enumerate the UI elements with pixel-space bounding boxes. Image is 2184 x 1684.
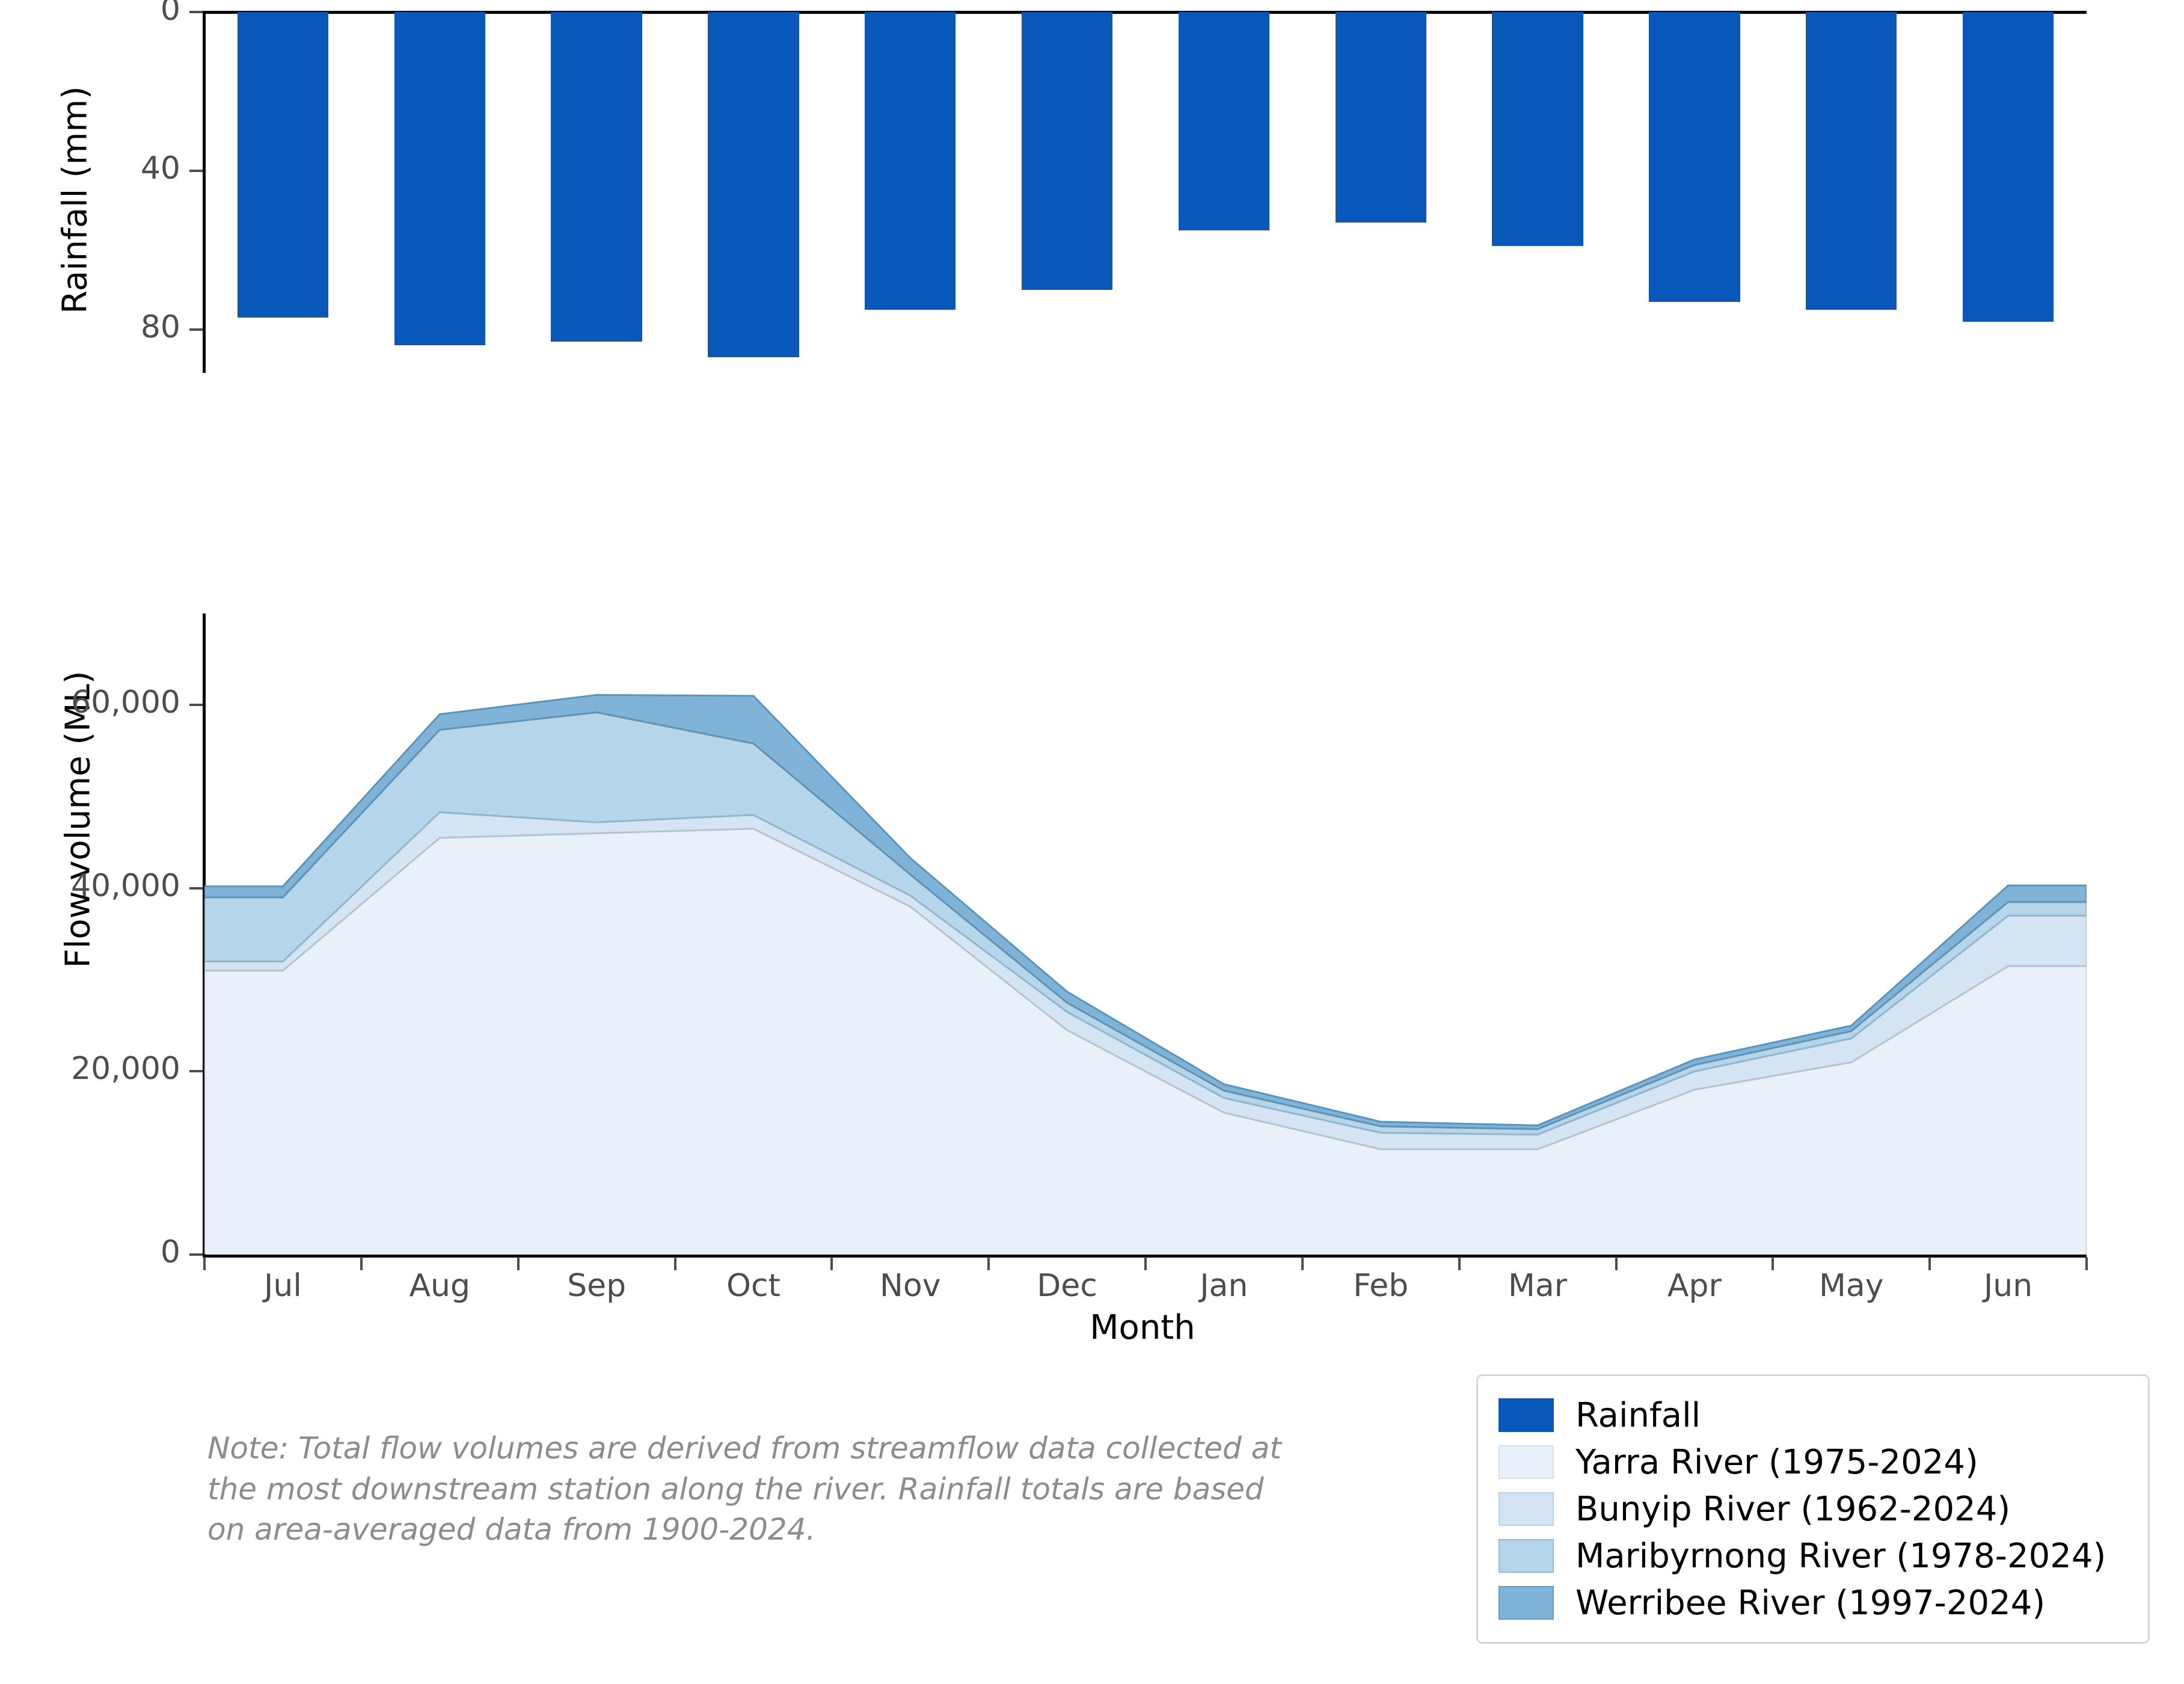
month-tick-label: Oct [675,1268,832,1304]
flow-tick-label: 0 [0,1234,180,1270]
legend-label: Werribee River (1997-2024) [1575,1584,2045,1623]
rainfall-tick-label: 0 [36,0,180,28]
rainfall-tick-mark [189,170,203,172]
x-axis-label: Month [198,1308,2087,1347]
rainfall-bar [1649,12,1740,302]
legend-label: Yarra River (1975-2024) [1575,1443,1978,1482]
rainfall-bars-panel [204,12,2087,373]
month-tick-label: Dec [989,1268,1146,1304]
chart-figure: Rainfall (mm) 04080 Flow volume (ML) 020… [0,0,2184,1684]
rainfall-tick-label: 40 [36,150,180,186]
rainfall-bar [1806,12,1897,310]
rainfall-bar [1963,12,2054,322]
rainfall-bar [551,12,642,342]
rainfall-bar [1336,12,1426,223]
flow-area-panel [204,613,2087,1254]
rainfall-bar [394,12,485,345]
flow-area-svg [204,613,2087,1254]
rainfall-bar [238,12,328,318]
legend-swatch [1498,1398,1554,1432]
flow-tick-mark [189,1253,203,1256]
flow-tick-label: 40,000 [0,868,180,904]
legend-item[interactable]: Yarra River (1975-2024) [1498,1439,2127,1486]
month-tick-label: Apr [1616,1268,1773,1304]
flow-tick-label: 60,000 [0,684,180,721]
rainfall-bar [708,12,799,357]
legend-label: Rainfall [1575,1396,1701,1435]
month-tick-label: Jan [1146,1268,1302,1304]
legend-item[interactable]: Werribee River (1997-2024) [1498,1579,2127,1626]
month-tick-label: May [1773,1268,1930,1304]
rainfall-tick-label: 80 [36,309,180,345]
month-tick-label: Sep [518,1268,675,1304]
month-tick-label: Feb [1302,1268,1459,1304]
legend-item[interactable]: Bunyip River (1962-2024) [1498,1486,2127,1532]
chart-note: Note: Total flow volumes are derived fro… [207,1428,1290,1550]
flow-tick-mark [189,704,203,706]
rainfall-bar [1022,12,1112,290]
chart-legend: RainfallYarra River (1975-2024)Bunyip Ri… [1476,1374,2150,1644]
legend-label: Bunyip River (1962-2024) [1575,1490,2010,1529]
month-tick-label: Nov [832,1268,989,1304]
month-tick-label: Jul [204,1268,361,1304]
legend-swatch [1498,1539,1554,1573]
month-tick-label: Aug [361,1268,518,1304]
flow-tick-mark [189,887,203,890]
flow-tick-label: 20,000 [0,1051,180,1087]
month-tick-label: Jun [1930,1268,2087,1304]
month-tick-label: Mar [1459,1268,1616,1304]
rainfall-bar [865,12,955,310]
legend-swatch [1498,1492,1554,1526]
rainfall-bar [1179,12,1269,230]
legend-item[interactable]: Maribyrnong River (1978-2024) [1498,1532,2127,1579]
rainfall-bar [1492,12,1583,246]
legend-item[interactable]: Rainfall [1498,1392,2127,1439]
flow-tick-mark [189,1070,203,1072]
legend-label: Maribyrnong River (1978-2024) [1575,1537,2106,1576]
legend-swatch [1498,1445,1554,1479]
rainfall-tick-mark [189,11,203,13]
rainfall-tick-mark [189,328,203,331]
legend-swatch [1498,1586,1554,1620]
rainfall-axis-label: Rainfall (mm) [56,68,95,333]
